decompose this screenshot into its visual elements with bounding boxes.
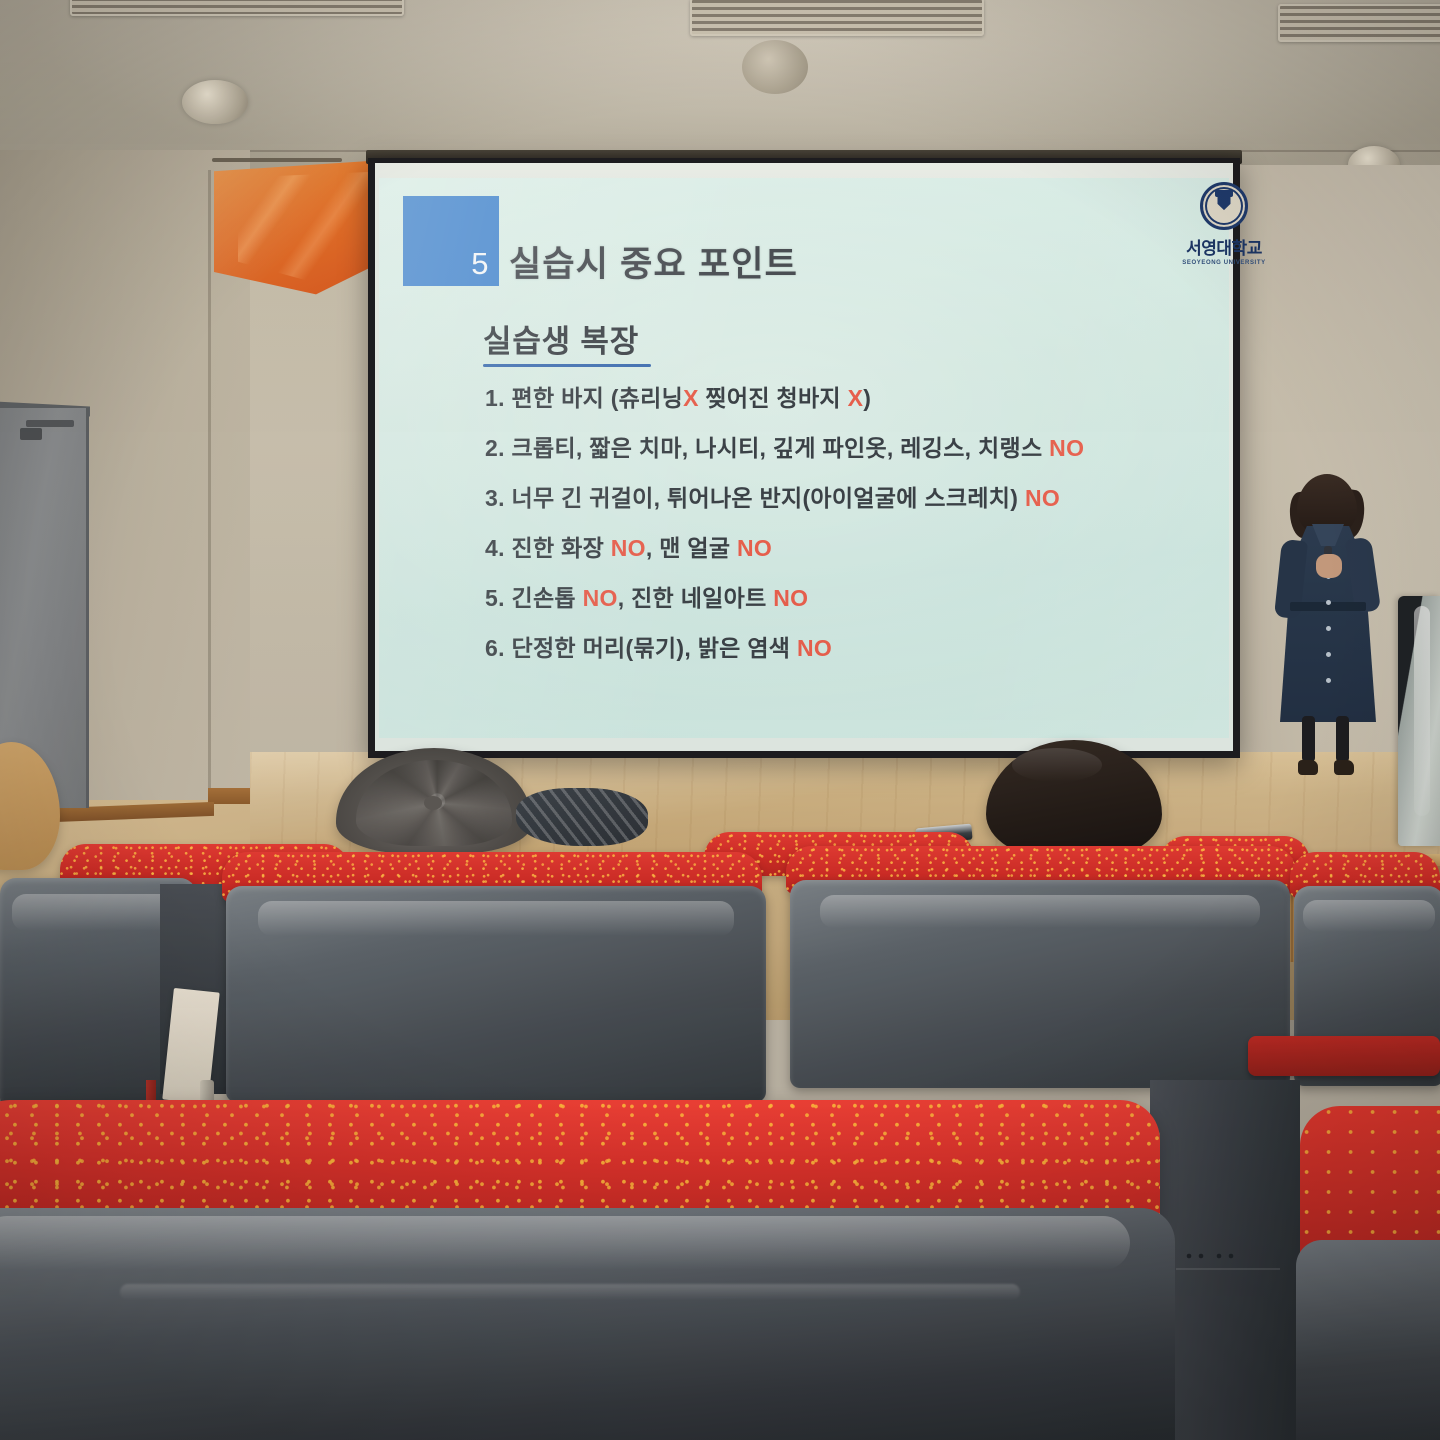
slide-bullet-item: 1. 편한 바지 (츄리닝X 찢어진 청바지 X): [485, 384, 1215, 412]
slide-bullet-item: 5. 긴손톱 NO, 진한 네일아트 NO: [485, 584, 1215, 612]
door-hinge-icon: [20, 428, 42, 440]
slide-section-number-box: 5: [403, 196, 499, 286]
seat-vent-slots: [1176, 1268, 1280, 1378]
air-vent-icon: [70, 0, 404, 16]
bullet-text: 진한 화장: [512, 535, 605, 561]
air-vent-icon: [690, 0, 984, 36]
door-closer-icon: [26, 420, 74, 427]
seat-cushion-foreground[interactable]: [0, 1100, 1160, 1220]
slide-title: 실습시 중요 포인트: [509, 236, 798, 287]
bullet-mark: NO: [797, 635, 832, 661]
attendee-scarf: [516, 788, 648, 846]
bullet-index: 5.: [485, 585, 505, 611]
seat-back[interactable]: [226, 886, 766, 1102]
armrest: [1248, 1036, 1440, 1076]
seat-cushion-foreground-right[interactable]: [1300, 1106, 1440, 1256]
slide-section-number: 5: [471, 246, 489, 282]
seat-back[interactable]: [790, 880, 1290, 1088]
bullet-index: 6.: [485, 635, 505, 661]
presentation-slide: 5 실습시 중요 포인트 실습생 복장 1. 편한 바지 (츄리닝X 찢어진 청…: [379, 178, 1229, 738]
university-logo: 서영대학교 SEOYEONG UNIVERSITY: [1178, 182, 1270, 274]
bullet-text-after: ): [863, 385, 871, 411]
lecture-hall-photo: 5 실습시 중요 포인트 실습생 복장 1. 편한 바지 (츄리닝X 찢어진 청…: [0, 0, 1440, 1440]
bullet-text-mid: , 맨 얼굴: [646, 535, 730, 561]
bullet-mark2: NO: [773, 585, 808, 611]
attendee-hair-sheen: [1012, 748, 1102, 782]
bullet-index: 1.: [485, 385, 505, 411]
slide-bullet-item: 2. 크롭티, 짧은 치마, 나시티, 깊게 파인옷, 레깅스, 치랭스 NO: [485, 434, 1215, 462]
downlight-icon: [182, 80, 248, 124]
seat-back-foreground-right[interactable]: [1296, 1240, 1440, 1440]
bullet-mark2: NO: [737, 535, 772, 561]
university-crest-icon: [1200, 182, 1248, 230]
slide-subtitle: 실습생 복장: [483, 316, 639, 367]
presenter-shoe: [1298, 760, 1318, 775]
university-name-en: SEOYEONG UNIVERSITY: [1182, 260, 1265, 266]
bullet-text: 너무 긴 귀걸이, 튀어나온 반지(아이얼굴에 스크레치): [512, 485, 1019, 511]
slide-bullet-item: 4. 진한 화장 NO, 맨 얼굴 NO: [485, 534, 1215, 562]
wall-corner: [208, 170, 211, 820]
slide-bullet-item: 6. 단정한 머리(묶기), 밝은 염색 NO: [485, 634, 1215, 662]
bullet-mark: NO: [583, 585, 618, 611]
bullet-index: 4.: [485, 535, 505, 561]
banner-rod: [212, 158, 342, 162]
presenter-hands: [1316, 554, 1342, 578]
slide-bullet-item: 3. 너무 긴 귀걸이, 튀어나온 반지(아이얼굴에 스크레치) NO: [485, 484, 1215, 512]
presenter: [1272, 474, 1384, 804]
seat-mount-bolts: [1186, 1252, 1246, 1260]
bullet-mark: NO: [1049, 435, 1084, 461]
av-equipment-sheen: [1414, 606, 1430, 816]
bullet-mark: NO: [1025, 485, 1060, 511]
bullet-text-mid: , 진한 네일아트: [618, 585, 767, 611]
bullet-index: 2.: [485, 435, 505, 461]
bullet-index: 3.: [485, 485, 505, 511]
bullet-text: 단정한 머리(묶기), 밝은 염색: [512, 635, 791, 661]
ceiling-speaker-icon: [742, 40, 808, 94]
bullet-text: 편한 바지 (츄리닝: [512, 385, 684, 411]
seat-back-highlight: [120, 1284, 1020, 1300]
bullet-text: 긴손톱: [512, 585, 576, 611]
bullet-text-mid: 찢어진 청바지: [705, 385, 840, 411]
bullet-mark: NO: [611, 535, 646, 561]
university-name-ko: 서영대학교: [1186, 234, 1262, 259]
slide-bullet-list: 1. 편한 바지 (츄리닝X 찢어진 청바지 X) 2. 크롭티, 짧은 치마,…: [485, 384, 1215, 684]
seat-back-highlight: [0, 1216, 1130, 1270]
bullet-text: 크롭티, 짧은 치마, 나시티, 깊게 파인옷, 레깅스, 치랭스: [512, 435, 1043, 461]
bullet-mark: X: [683, 385, 699, 411]
air-vent-icon: [1278, 4, 1440, 42]
beret-center-knob: [424, 796, 442, 810]
slide-subtitle-underline: [483, 364, 651, 367]
presenter-shoe: [1334, 760, 1354, 775]
bullet-mark2: X: [848, 385, 864, 411]
